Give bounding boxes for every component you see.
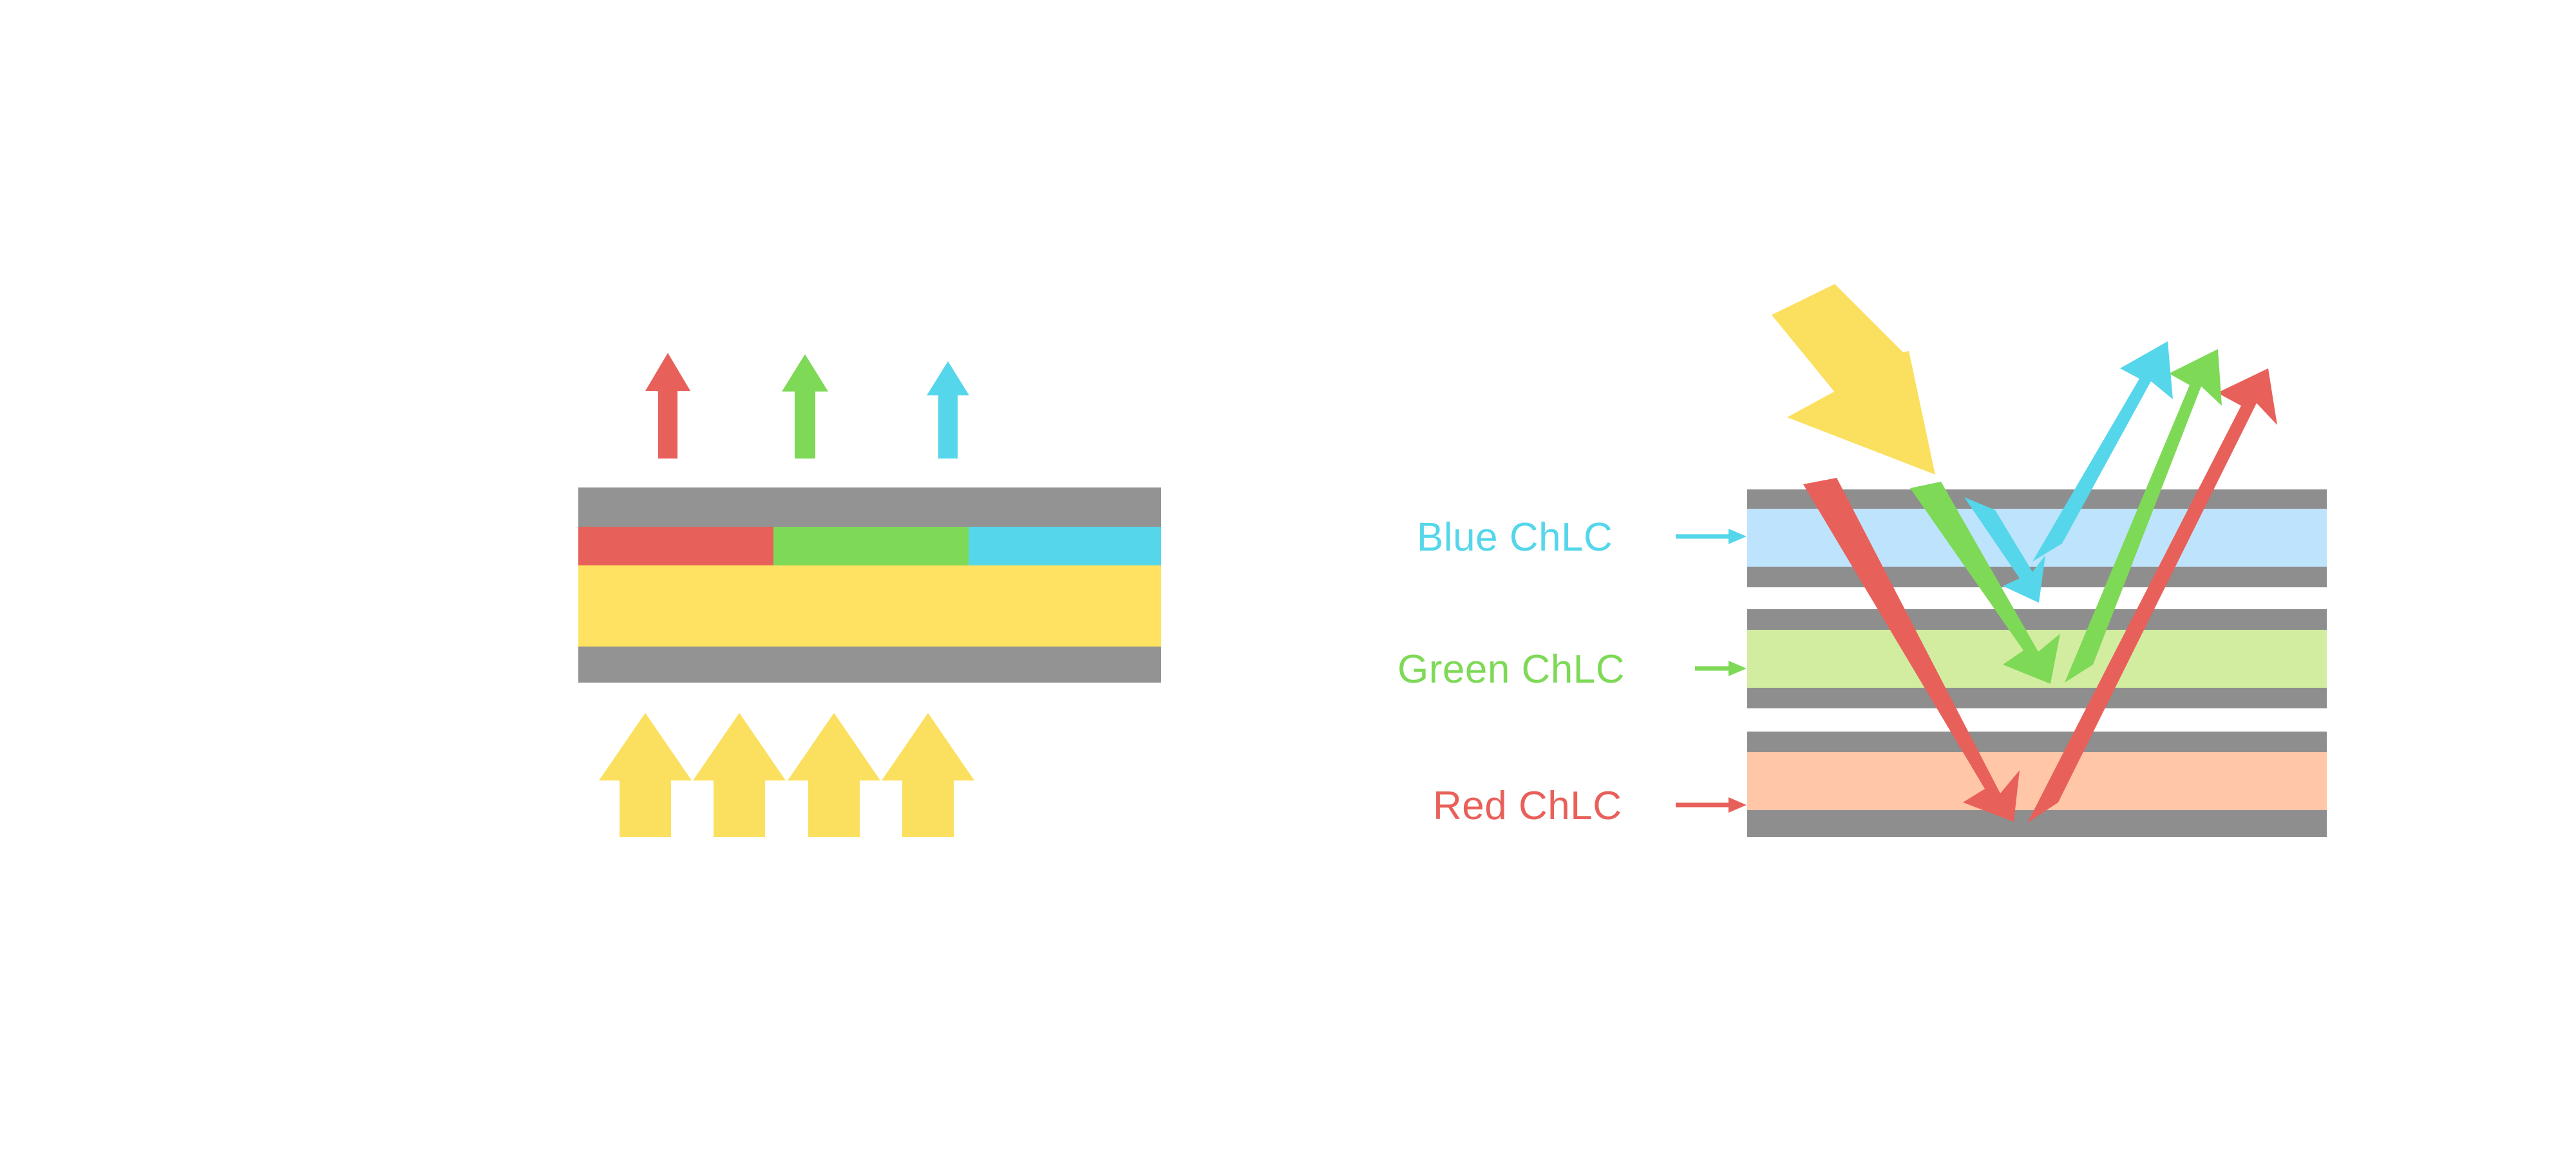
red-emission-arrow-icon (645, 353, 690, 459)
chlc-diagram-canvas: Blue ChLC Green ChLC Red ChLC (0, 0, 2576, 1154)
backlight-arrow-icon-3 (788, 713, 880, 837)
label-blue-chlc: Blue ChLC (1417, 515, 1613, 560)
right-electrode-5 (1747, 732, 2327, 752)
figure-root: Blue ChLC Green ChLC Red ChLC (0, 0, 2576, 1154)
left-bottom-electrode (578, 647, 1161, 683)
label-green-pointer-arrow-icon (1695, 661, 1747, 676)
right-panel-labels: Blue ChLC Green ChLC Red ChLC (1397, 515, 1747, 828)
left-red-filter-segment (578, 527, 773, 565)
left-panel-group (578, 353, 1161, 837)
right-electrode-4 (1747, 688, 2327, 708)
backlight-arrow-icon-1 (599, 713, 692, 837)
label-red-pointer-arrow-icon (1676, 797, 1747, 813)
label-red-chlc: Red ChLC (1433, 784, 1622, 828)
label-blue-pointer-arrow-icon (1676, 529, 1747, 544)
left-top-electrode (578, 487, 1161, 527)
left-backlight-layer (578, 565, 1161, 647)
ambient-light-arrow-icon-group (1772, 284, 1936, 477)
left-emitted-arrows (645, 353, 969, 459)
backlight-arrow-icon-4 (882, 713, 974, 837)
right-panel-group: Blue ChLC Green ChLC Red ChLC (1397, 284, 2327, 837)
left-stack (578, 487, 1161, 683)
left-blue-filter-segment (969, 527, 1161, 565)
label-green-chlc: Green ChLC (1397, 647, 1625, 692)
green-emission-arrow-icon (782, 354, 828, 459)
left-backlight-arrows (599, 713, 974, 837)
backlight-arrow-icon-2 (693, 713, 786, 837)
right-gap-2 (1747, 708, 2327, 732)
red-chlc-layer (1747, 752, 2327, 810)
blue-emission-arrow-icon (927, 361, 969, 459)
right-electrode-3 (1747, 609, 2327, 630)
left-green-filter-segment (773, 527, 969, 565)
